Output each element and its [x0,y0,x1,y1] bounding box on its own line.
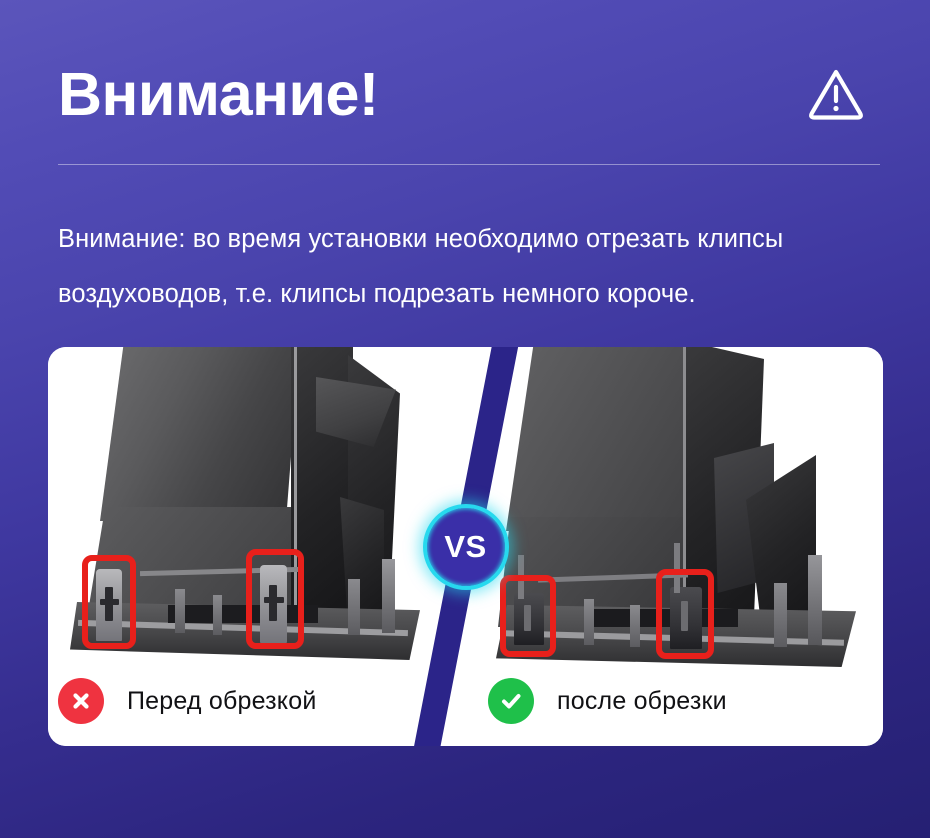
verdict-label-before: Перед обрезкой [127,687,317,716]
verdict-after: после обрезки [488,678,727,724]
vs-badge: VS [423,504,509,590]
header-divider [58,164,880,165]
cross-icon [58,678,104,724]
check-icon [488,678,534,724]
page-title: Внимание! [58,64,379,125]
verdict-before: Перед обрезкой [58,678,317,724]
warning-text-line-1: Внимание: во время установки необходимо … [58,212,888,267]
vs-label: VS [444,531,486,562]
comparison-card: VS Перед обрезкой после обрезки [48,347,883,746]
highlight-box-clip-right [246,549,304,649]
warning-infographic: Внимание! Внимание: во время установки н… [0,0,930,838]
highlight-box-clip-left [82,555,136,649]
verdict-label-after: после обрезки [557,687,727,716]
highlight-box-clip-left [500,575,556,657]
warning-text-line-2: воздуховодов, т.е. клипсы подрезать немн… [58,267,888,322]
highlight-box-clip-right [656,569,714,659]
header: Внимание! [58,58,880,130]
warning-text: Внимание: во время установки необходимо … [58,212,888,322]
warning-triangle-icon [806,66,866,122]
